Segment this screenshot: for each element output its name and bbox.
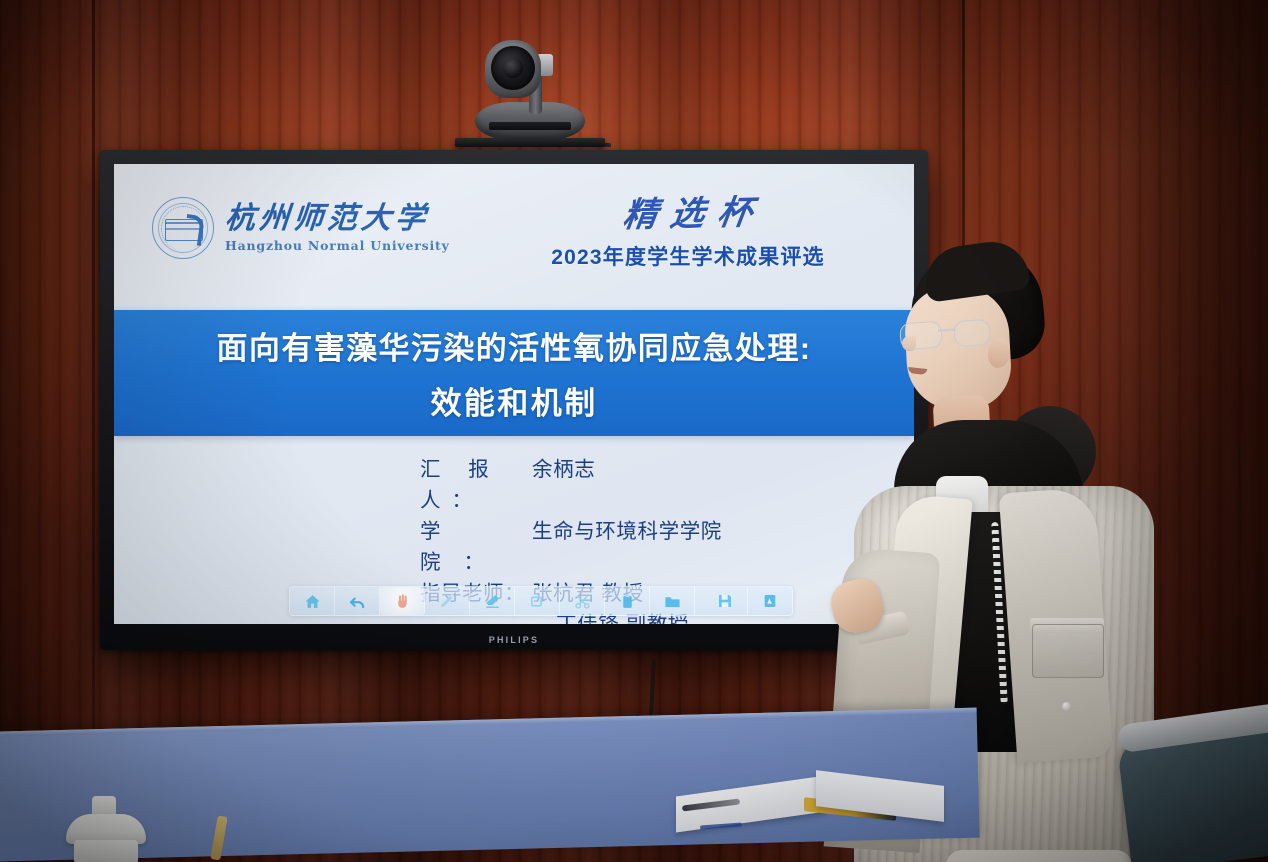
conference-room-scene: 杭州师范大学 Hangzhou Normal University 精选杯 20… [0,0,1268,862]
university-name: 杭州师范大学 Hangzhou Normal University [225,204,450,253]
office-chair [1118,692,1268,862]
camera-lens-inner [503,58,523,78]
glasses-lens-left-icon [899,321,943,351]
hand-palm-icon[interactable] [380,587,425,615]
camera-base-slot [489,122,571,130]
info-value: 余柄志 [532,454,595,516]
info-row-presenter: 汇 报 人： 余柄志 [420,454,722,516]
eraser-icon[interactable] [470,587,515,615]
save-disk-icon[interactable] [703,587,748,615]
jacket-pocket [1032,624,1104,678]
info-value: 生命与环境科学学院 [532,516,722,578]
undo-arrow-icon[interactable] [335,587,380,615]
glasses-lens-right-icon [953,319,991,347]
info-row-college: 学 院： 生命与环境科学学院 [420,516,722,578]
university-seal-icon [152,197,214,259]
presentation-slide: 杭州师范大学 Hangzhou Normal University 精选杯 20… [114,164,914,624]
jacket-button [1062,702,1071,711]
slide-title-banner: 面向有害藻华污染的活性氧协同应急处理: 效能和机制 [114,310,914,436]
competition-subtitle: 2023年度学生学术成果评选 [498,241,878,271]
shape-icon[interactable] [515,587,560,615]
clipboard-icon[interactable] [605,587,650,615]
slide-title-line1: 面向有害藻华污染的活性氧协同应急处理: [217,323,812,368]
teacup-body [74,840,138,862]
folder-icon[interactable] [650,587,695,615]
lidded-teacup [60,796,152,862]
slide-title-line2: 效能和机制 [431,378,598,423]
info-label: 学 院： [420,516,532,578]
info-label: 汇 报 人： [420,454,532,516]
competition-branding: 精选杯 2023年度学生学术成果评选 [498,186,878,271]
ptz-conference-camera [455,30,605,152]
pen-icon[interactable] [425,587,470,615]
university-logo: 杭州师范大学 Hangzhou Normal University [152,197,450,259]
scissors-icon[interactable] [560,587,605,615]
whiteboard-toolbar[interactable] [289,586,793,616]
university-name-en: Hangzhou Normal University [225,240,450,253]
edit-note-icon[interactable] [748,587,792,615]
display-screen: 杭州师范大学 Hangzhou Normal University 精选杯 20… [114,164,914,624]
home-icon[interactable] [290,587,335,615]
slide-header: 杭州师范大学 Hangzhou Normal University 精选杯 20… [114,164,914,304]
competition-cup-name: 精选杯 [494,182,895,239]
presenter-pants [946,850,1132,862]
philips-display: 杭州师范大学 Hangzhou Normal University 精选杯 20… [100,150,928,650]
open-notebook [676,776,944,832]
toolbar-divider [695,587,703,615]
university-name-cn: 杭州师范大学 [224,204,451,234]
display-brand-label: PHILIPS [100,635,928,645]
